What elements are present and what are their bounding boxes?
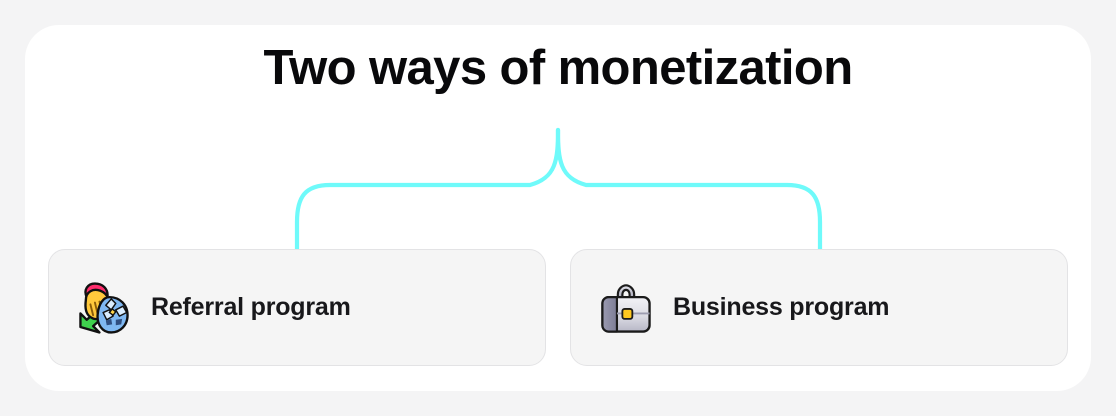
screenshot-root: Two ways of monetization [0, 0, 1116, 416]
page-title: Two ways of monetization [0, 44, 1116, 93]
option-card-business[interactable]: Business program [570, 249, 1068, 366]
option-card-referral[interactable]: Referral program [48, 249, 546, 366]
knight-helmet-shield-icon [75, 279, 133, 337]
briefcase-icon [597, 279, 655, 337]
options-row: Referral program [48, 249, 1068, 366]
option-label-business: Business program [673, 293, 889, 322]
option-label-referral: Referral program [151, 293, 351, 322]
